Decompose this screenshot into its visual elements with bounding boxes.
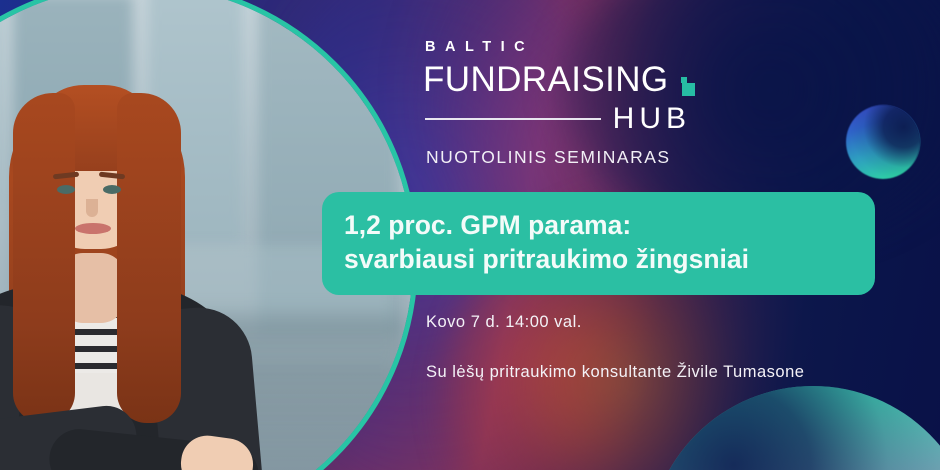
logo-word-hub: HUB xyxy=(613,104,691,134)
headline-line-1: 1,2 proc. GPM parama: xyxy=(344,208,853,242)
logo-corner-accent-icon xyxy=(682,83,695,96)
logo-word-fundraising: FUNDRAISING xyxy=(423,61,691,99)
headline-line-2: svarbiausi pritraukimo žingsniai xyxy=(344,242,853,276)
event-type-kicker: NUOTOLINIS SEMINARAS xyxy=(426,147,671,168)
baltic-fundraising-hub-logo: BALTIC FUNDRAISING HUB xyxy=(423,40,691,135)
logo-divider-rule xyxy=(425,118,601,120)
logo-word-baltic: BALTIC xyxy=(425,40,691,55)
logo-hub-row: HUB xyxy=(423,103,691,135)
headline-pill: 1,2 proc. GPM parama: svarbiausi pritrau… xyxy=(322,192,875,295)
logo-main-row: FUNDRAISING xyxy=(423,61,691,99)
event-datetime: Kovo 7 d. 14:00 val. xyxy=(426,313,582,332)
event-speaker: Su lėšų pritraukimo konsultante Živile T… xyxy=(426,363,804,382)
content-column: BALTIC FUNDRAISING HUB NUOTOLINIS SEMINA… xyxy=(418,0,918,470)
webinar-promo-banner: BALTIC FUNDRAISING HUB NUOTOLINIS SEMINA… xyxy=(0,0,940,470)
